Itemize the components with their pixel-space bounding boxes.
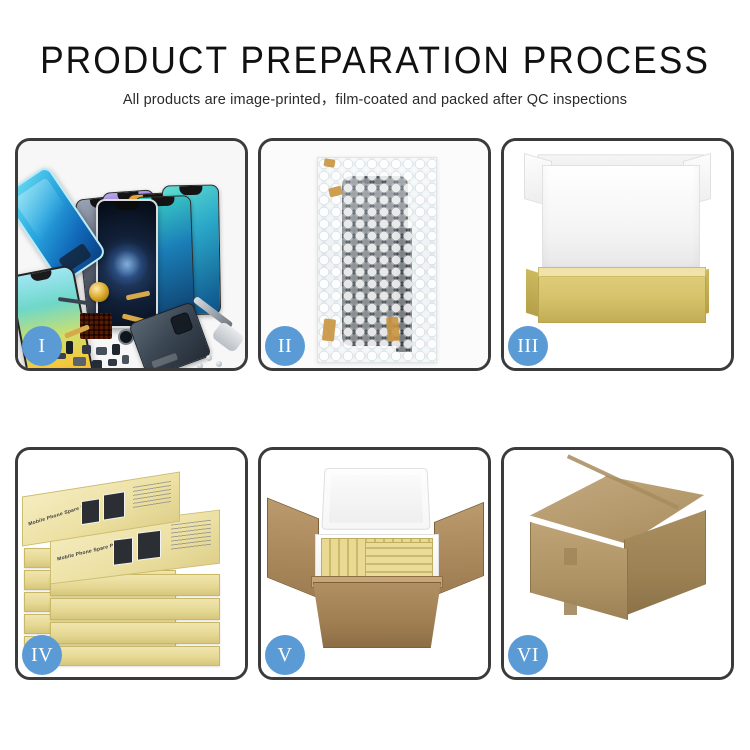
small-component-part (122, 355, 129, 364)
phone-notch-icon (30, 270, 52, 282)
gold-coil-part (89, 282, 109, 302)
page-title: PRODUCT PREPARATION PROCESS (26, 40, 724, 83)
screw-part (216, 361, 222, 367)
yellow-box-tray (538, 269, 706, 323)
step-badge-3: III (508, 326, 548, 366)
screw-part (206, 355, 212, 361)
box-lip (538, 267, 706, 277)
tape-piece (323, 158, 335, 168)
carton-body (313, 582, 441, 648)
process-step-panel-3[interactable]: III (501, 138, 734, 371)
screw-part (197, 363, 203, 368)
stacked-box (50, 598, 220, 620)
stacked-box (50, 646, 220, 666)
small-component-part (73, 357, 86, 366)
small-component-part (92, 360, 102, 368)
step-badge-5: V (265, 635, 305, 675)
box-product-image (103, 491, 125, 520)
step-badge-4: IV (22, 635, 62, 675)
tape-piece (322, 318, 336, 341)
step-badge-1: I (22, 326, 62, 366)
box-product-image (81, 498, 100, 525)
process-step-grid: I II (15, 138, 735, 680)
header: PRODUCT PREPARATION PROCESS All products… (0, 0, 750, 124)
box-product-image (113, 537, 133, 565)
carton-tape (564, 600, 577, 615)
box-spec-text (133, 481, 171, 511)
box-product-image (137, 530, 161, 561)
small-component-part (82, 345, 91, 354)
process-step-panel-5[interactable]: V (258, 447, 491, 680)
box-spec-text (171, 520, 211, 551)
phone-notch-icon (179, 186, 202, 195)
small-component-part (66, 341, 73, 354)
step-badge-6: VI (508, 635, 548, 675)
carton-tape (564, 548, 577, 565)
page-subtitle: All products are image-printed，film-coat… (0, 88, 750, 109)
tape-piece (386, 317, 400, 342)
process-step-panel-1[interactable]: I (15, 138, 248, 371)
packed-yellow-boxes (365, 542, 433, 580)
step-badge-2: II (265, 326, 305, 366)
foam-box-lid (321, 468, 430, 530)
small-component-part (96, 347, 107, 355)
small-component-part (112, 344, 120, 355)
phone-notch-icon (115, 201, 139, 210)
white-foam-sheet (542, 165, 700, 275)
process-step-panel-6[interactable]: VI (501, 447, 734, 680)
small-component-part (108, 359, 117, 366)
screen-glass-panel (96, 199, 158, 328)
process-step-panel-4[interactable]: Mobile Phone Spare Parts Mobile Phone Sp… (15, 447, 248, 680)
process-step-panel-2[interactable]: II (258, 138, 491, 371)
stacked-box (50, 622, 220, 644)
